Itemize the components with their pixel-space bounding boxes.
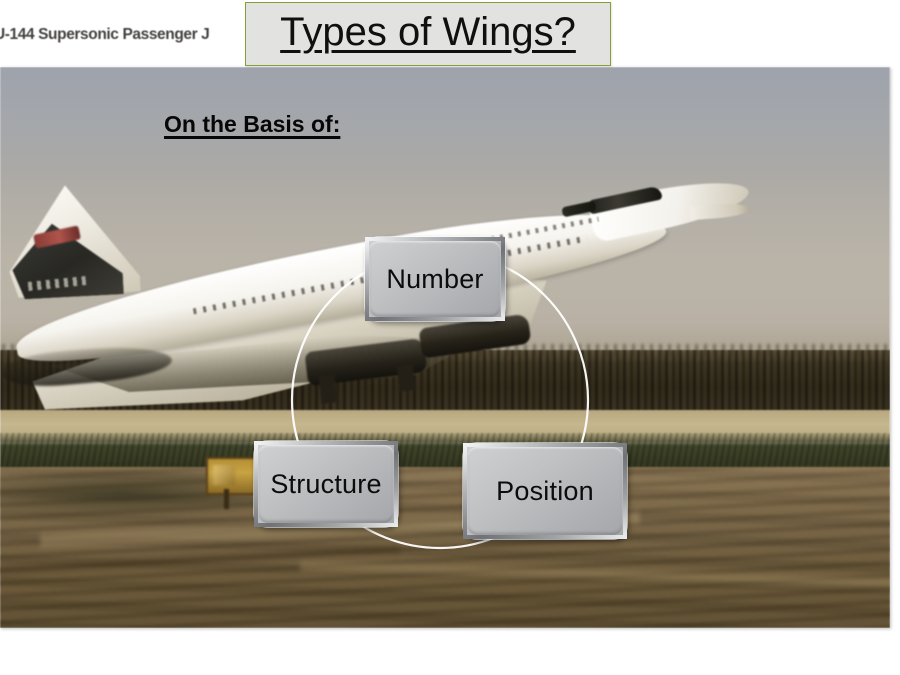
- nose-tip: [690, 202, 751, 220]
- aircraft-photo: [0, 67, 890, 628]
- cycle-node-structure[interactable]: Structure: [254, 441, 398, 527]
- photo-scene: [0, 67, 890, 628]
- landing-gear-right: [397, 364, 416, 392]
- photo-caption: U-144 Supersonic Passenger J: [0, 26, 250, 60]
- cycle-node-number-label: Number: [386, 264, 483, 294]
- slide-title-box: Types of Wings?: [245, 2, 611, 66]
- roadside-sign-post: [224, 489, 229, 509]
- cycle-node-structure-label: Structure: [270, 469, 381, 499]
- photo-caption-text: U-144 Supersonic Passenger J: [0, 26, 209, 44]
- roadside-sign: [206, 457, 256, 495]
- cycle-node-position-label: Position: [496, 476, 594, 506]
- slide-canvas: U-144 Supersonic Passenger J Types of Wi…: [0, 0, 900, 675]
- subtitle-heading: On the Basis of:: [164, 110, 340, 138]
- cycle-node-position[interactable]: Position: [463, 443, 627, 539]
- cycle-node-number[interactable]: Number: [365, 237, 505, 321]
- landing-gear-left: [319, 374, 338, 404]
- page-title: Types of Wings?: [246, 9, 610, 55]
